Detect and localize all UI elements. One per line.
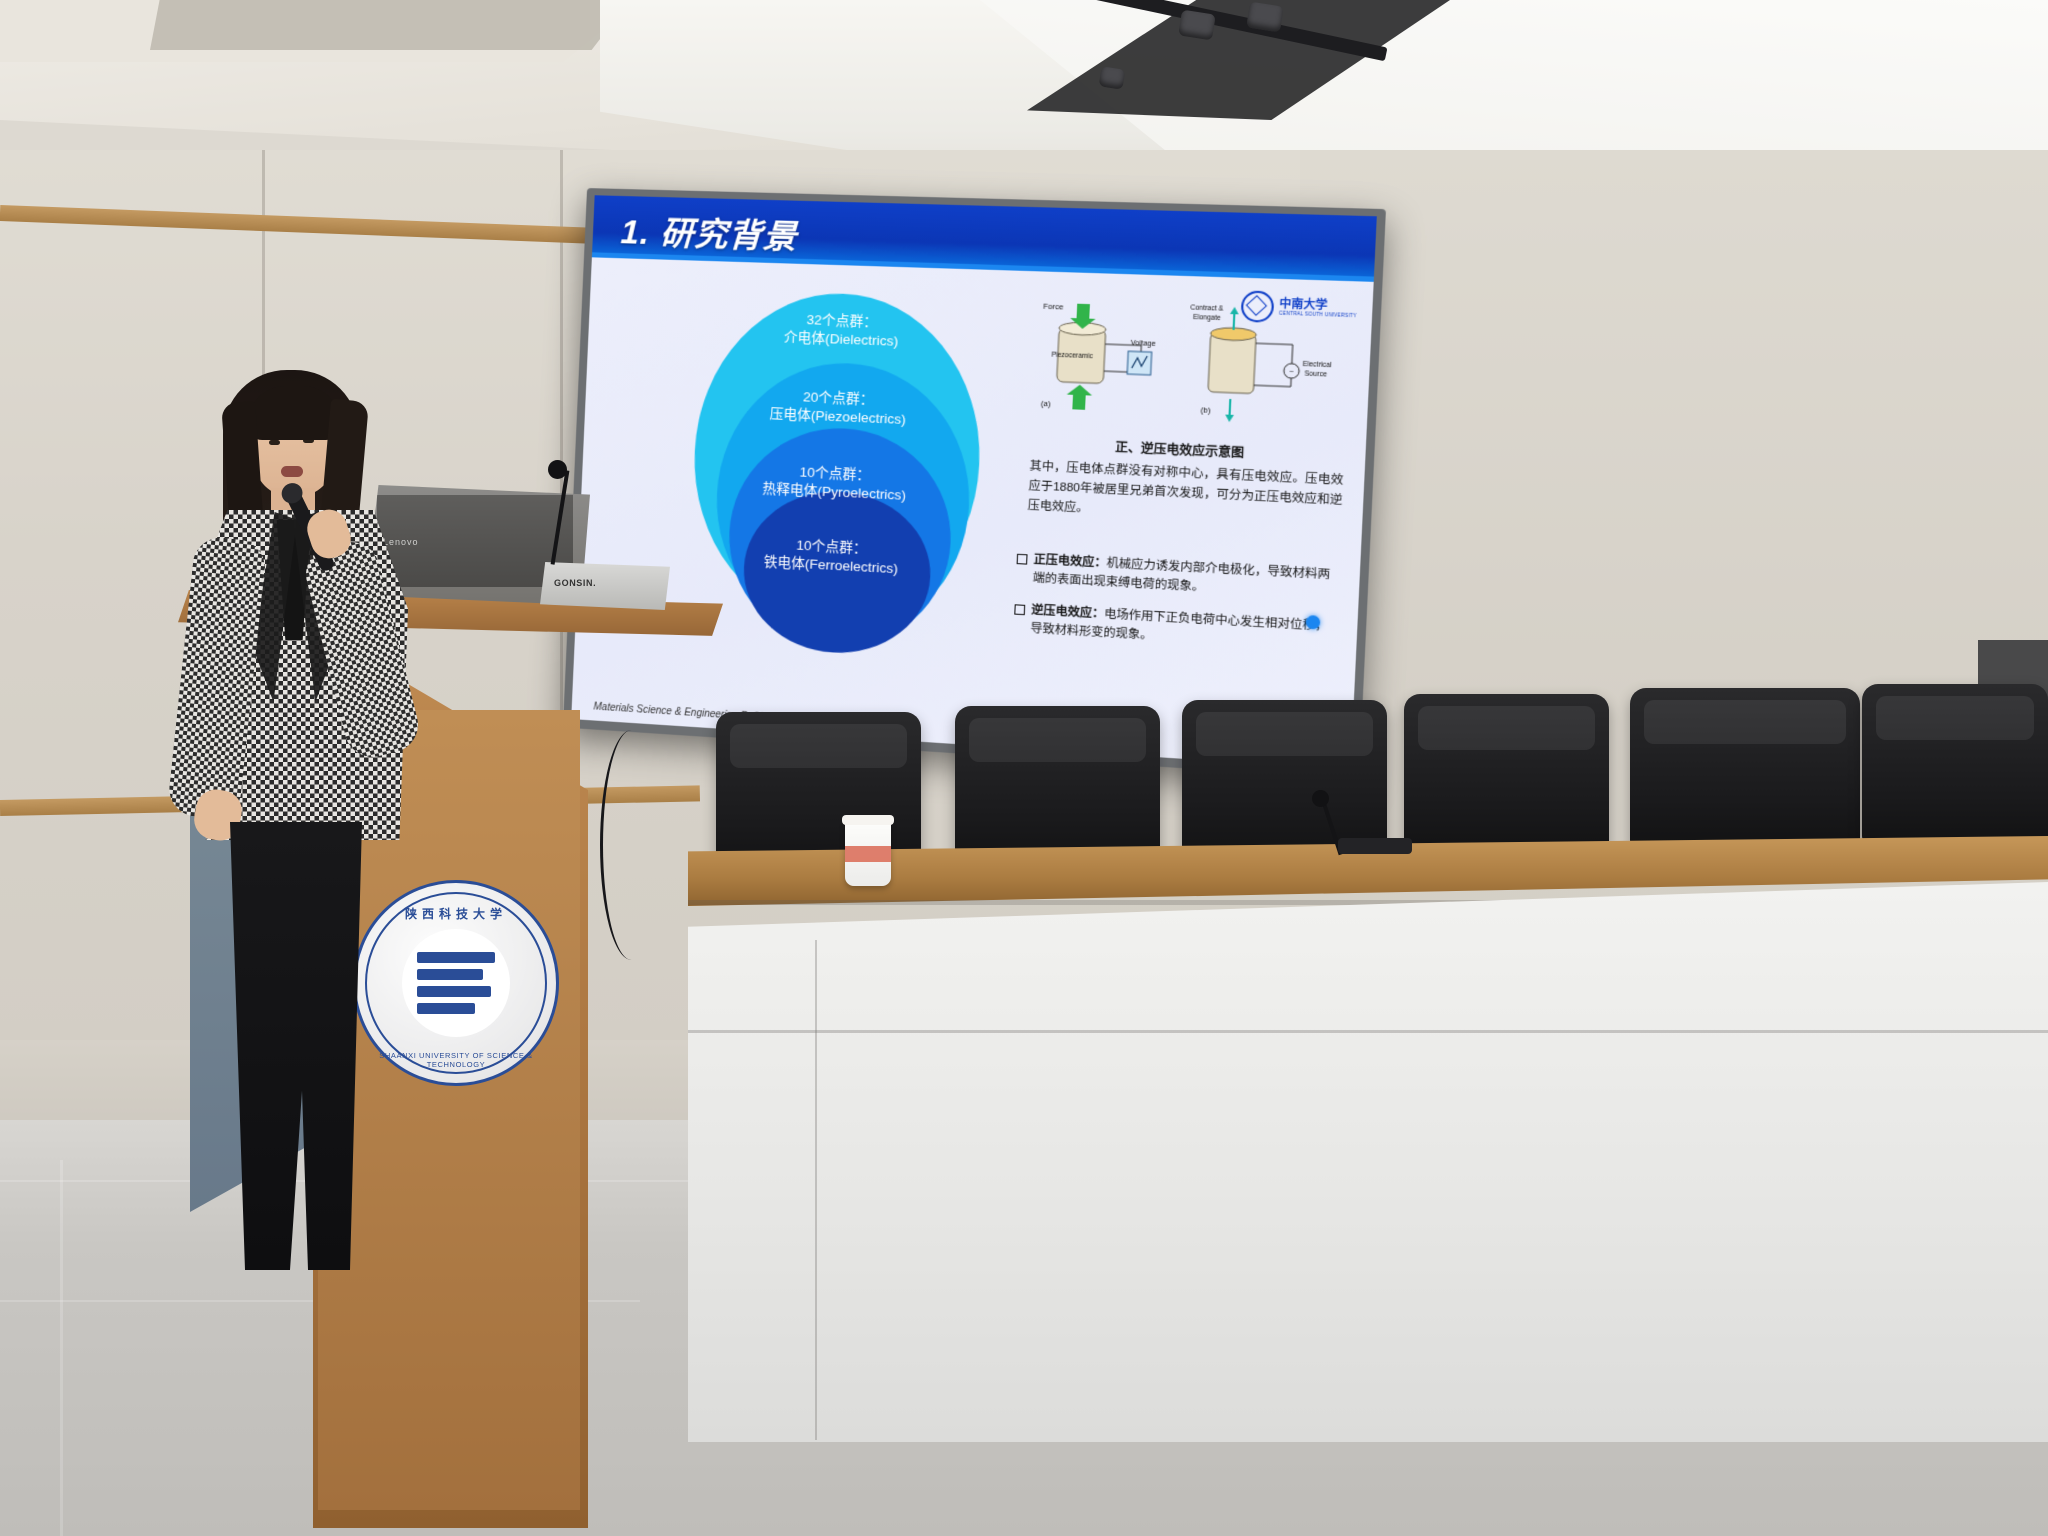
diagram-label-elongate: Elongate [1193, 314, 1221, 322]
conference-unit-brand-label: GONSIN. [554, 578, 596, 588]
svg-text:~: ~ [1289, 369, 1294, 377]
diagram-label-b: (b) [1200, 405, 1211, 415]
diagram-label-contract: Contract & [1190, 304, 1224, 313]
floor-tile-line [60, 1160, 63, 1536]
trousers [221, 822, 371, 1270]
chair[interactable] [1862, 684, 2048, 844]
diagram-label-voltage: Voltage [1131, 340, 1156, 348]
eye-left [269, 440, 280, 445]
table-panel-seam [815, 940, 817, 1440]
cup-lid [842, 815, 894, 825]
bullet-term-0: 正压电效应： [1033, 554, 1107, 570]
cup-band [845, 846, 891, 862]
chair[interactable] [1630, 688, 1860, 848]
bullet-square-icon [1017, 554, 1028, 565]
chair[interactable] [1182, 700, 1387, 860]
spotlight-icon [1099, 66, 1126, 90]
diagram-label-source: Source [1304, 370, 1327, 378]
chair[interactable] [955, 706, 1160, 866]
slide-title: 1. 研究背景 [620, 205, 799, 259]
bullet-square-icon [1014, 604, 1025, 615]
spotlight-icon [1246, 2, 1284, 33]
diagram-label-piezoceramic: Piezoceramic [1051, 351, 1093, 360]
piezoelectric-effect-diagram: Force Piezoceramic Voltage (a) ~ [1022, 292, 1351, 450]
diagram-label-force: Force [1043, 301, 1064, 311]
conference-microphone-unit[interactable]: GONSIN. [540, 562, 670, 610]
bullet-term-1: 逆压电效应： [1031, 604, 1105, 620]
hair-fringe [247, 386, 341, 440]
slide-paragraph: 其中，压电体点群没有对称中心，具有压电效应。压电效应于1880年被居里兄弟首次发… [1027, 457, 1344, 531]
paper-cup[interactable] [845, 820, 891, 886]
ceiling-light-slot [150, 0, 630, 50]
table-panel-seam [688, 1030, 2048, 1033]
bullet-item: 逆压电效应：电场作用下正负电荷中心发生相对位移，导致材料形变的现象。 [1013, 600, 1337, 656]
conference-room-photo: 1. 研究背景 中南大学 CENTRAL SOUTH UNIVERSITY [0, 0, 2048, 1536]
presenter [175, 370, 435, 1270]
display-power-cable [600, 730, 663, 960]
piezo-svg: Force Piezoceramic Voltage (a) ~ [1022, 292, 1352, 456]
microphone-icon [548, 460, 567, 479]
bullet-item: 正压电效应：机械应力诱发内部介电极化，导致材料两端的表面出现束缚电荷的现象。 [1015, 550, 1339, 605]
spotlight-icon [1178, 10, 1216, 41]
slide-bullet-list: 正压电效应：机械应力诱发内部介电极化，导致材料两端的表面出现束缚电荷的现象。 逆… [1013, 550, 1340, 669]
table-microphone-base [1338, 838, 1412, 854]
diagram-label-electrical: Electrical [1303, 361, 1332, 369]
conference-table-front [688, 882, 2048, 1442]
mouth [281, 466, 303, 477]
microphone-icon [1312, 790, 1329, 807]
diagram-label-a: (a) [1041, 399, 1052, 409]
wall-panel-right [1300, 150, 2048, 770]
chair[interactable] [1404, 694, 1609, 854]
